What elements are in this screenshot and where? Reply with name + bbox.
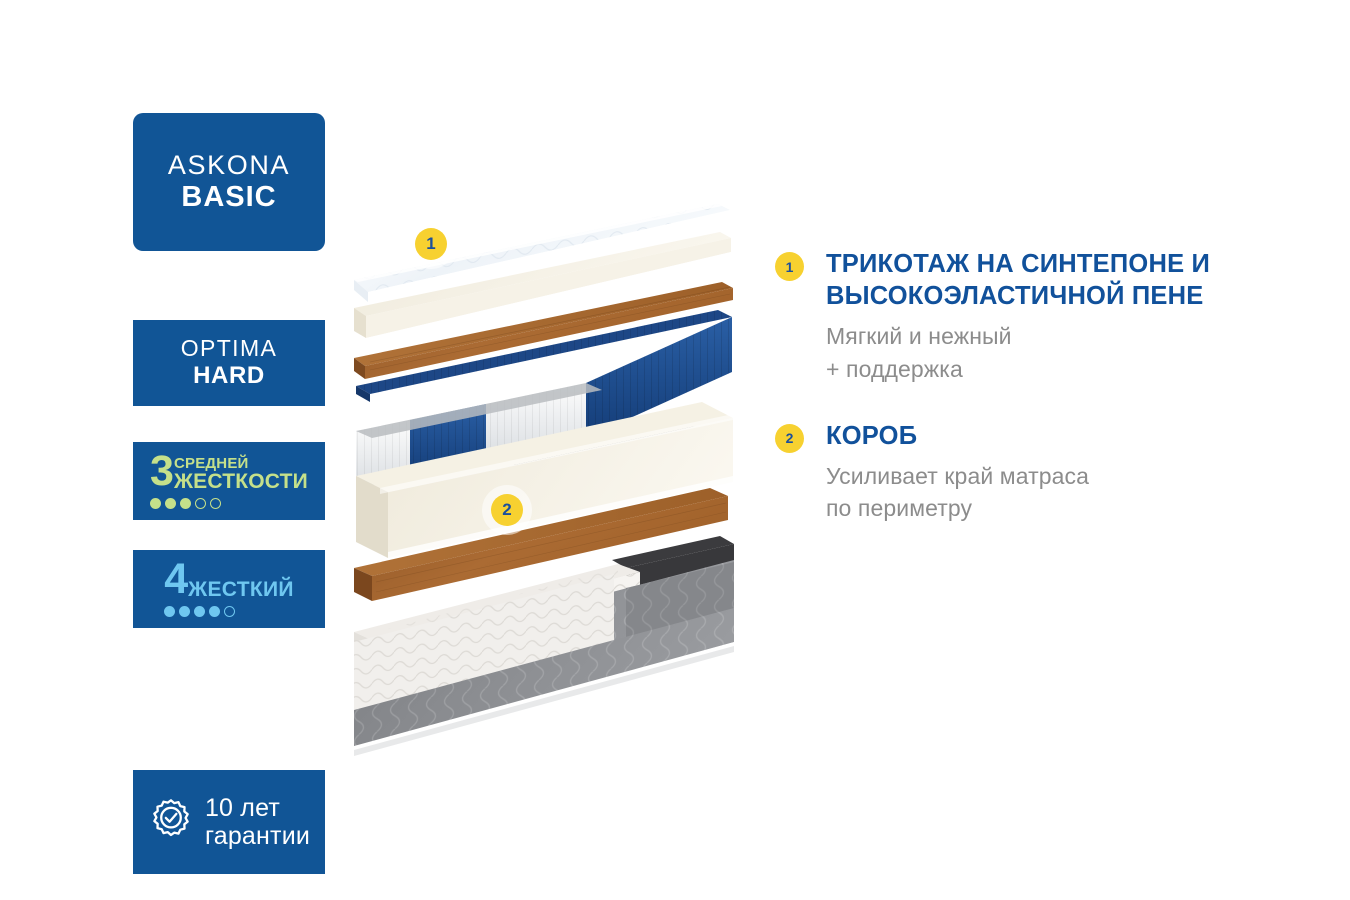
firmness-3-word1: СРЕДНЕЙ [174, 456, 308, 471]
scale-dot [179, 606, 190, 617]
scale-dot [165, 498, 176, 509]
feature-list: 1 ТРИКОТАЖ НА СИНТЕПОНЕ И ВЫСОКОЭЛАСТИЧН… [775, 248, 1275, 559]
firmness-4-number: 4 [164, 562, 187, 597]
scale-dot [150, 498, 161, 509]
badge-firmness-4: 4 ЖЕСТКИЙ [133, 550, 325, 628]
badge-warranty: 10 лет гарантии [133, 770, 325, 874]
callout-badge-2: 2 [491, 494, 523, 526]
mattress-cross-section-image [350, 190, 735, 800]
infographic-page: ASKONA BASIC OPTIMA HARD 3 СРЕДНЕЙ ЖЕСТК… [0, 0, 1350, 900]
guarantee-seal-icon [148, 797, 194, 848]
firmness-4-scale [164, 606, 235, 617]
model-variant: HARD [193, 362, 265, 391]
sidebar-badges: ASKONA BASIC OPTIMA HARD 3 СРЕДНЕЙ ЖЕСТК… [133, 113, 325, 763]
badge-brand: ASKONA BASIC [133, 113, 325, 251]
scale-dot [209, 606, 220, 617]
firmness-3-number: 3 [150, 454, 173, 489]
feature-item-2: 2 КОРОБ Усиливает край матраса по периме… [775, 420, 1275, 525]
feature-number-2: 2 [775, 424, 804, 453]
scale-dot [194, 606, 205, 617]
model-name: OPTIMA [181, 335, 278, 363]
callout-badge-1: 1 [415, 228, 447, 260]
feature-item-1: 1 ТРИКОТАЖ НА СИНТЕПОНЕ И ВЫСОКОЭЛАСТИЧН… [775, 248, 1275, 386]
feature-number-1: 1 [775, 252, 804, 281]
badge-firmness-3: 3 СРЕДНЕЙ ЖЕСТКОСТИ [133, 442, 325, 520]
warranty-years: 10 лет [205, 794, 310, 822]
badge-model: OPTIMA HARD [133, 320, 325, 406]
scale-dot [180, 498, 191, 509]
brand-tier: BASIC [181, 181, 276, 214]
scale-dot [195, 498, 206, 509]
firmness-3-scale [150, 498, 221, 509]
brand-name: ASKONA [168, 150, 290, 181]
scale-dot [224, 606, 235, 617]
scale-dot [164, 606, 175, 617]
warranty-label: гарантии [205, 822, 310, 850]
feature-title-1: ТРИКОТАЖ НА СИНТЕПОНЕ И ВЫСОКОЭЛАСТИЧНОЙ… [826, 248, 1256, 312]
feature-title-2: КОРОБ [826, 420, 1256, 452]
scale-dot [210, 498, 221, 509]
firmness-4-word1: ЖЕСТКИЙ [188, 562, 294, 600]
feature-description-1: Мягкий и нежный + поддержка [826, 320, 1256, 385]
feature-description-2: Усиливает край матраса по периметру [826, 460, 1256, 525]
firmness-3-word2: ЖЕСТКОСТИ [174, 471, 308, 492]
